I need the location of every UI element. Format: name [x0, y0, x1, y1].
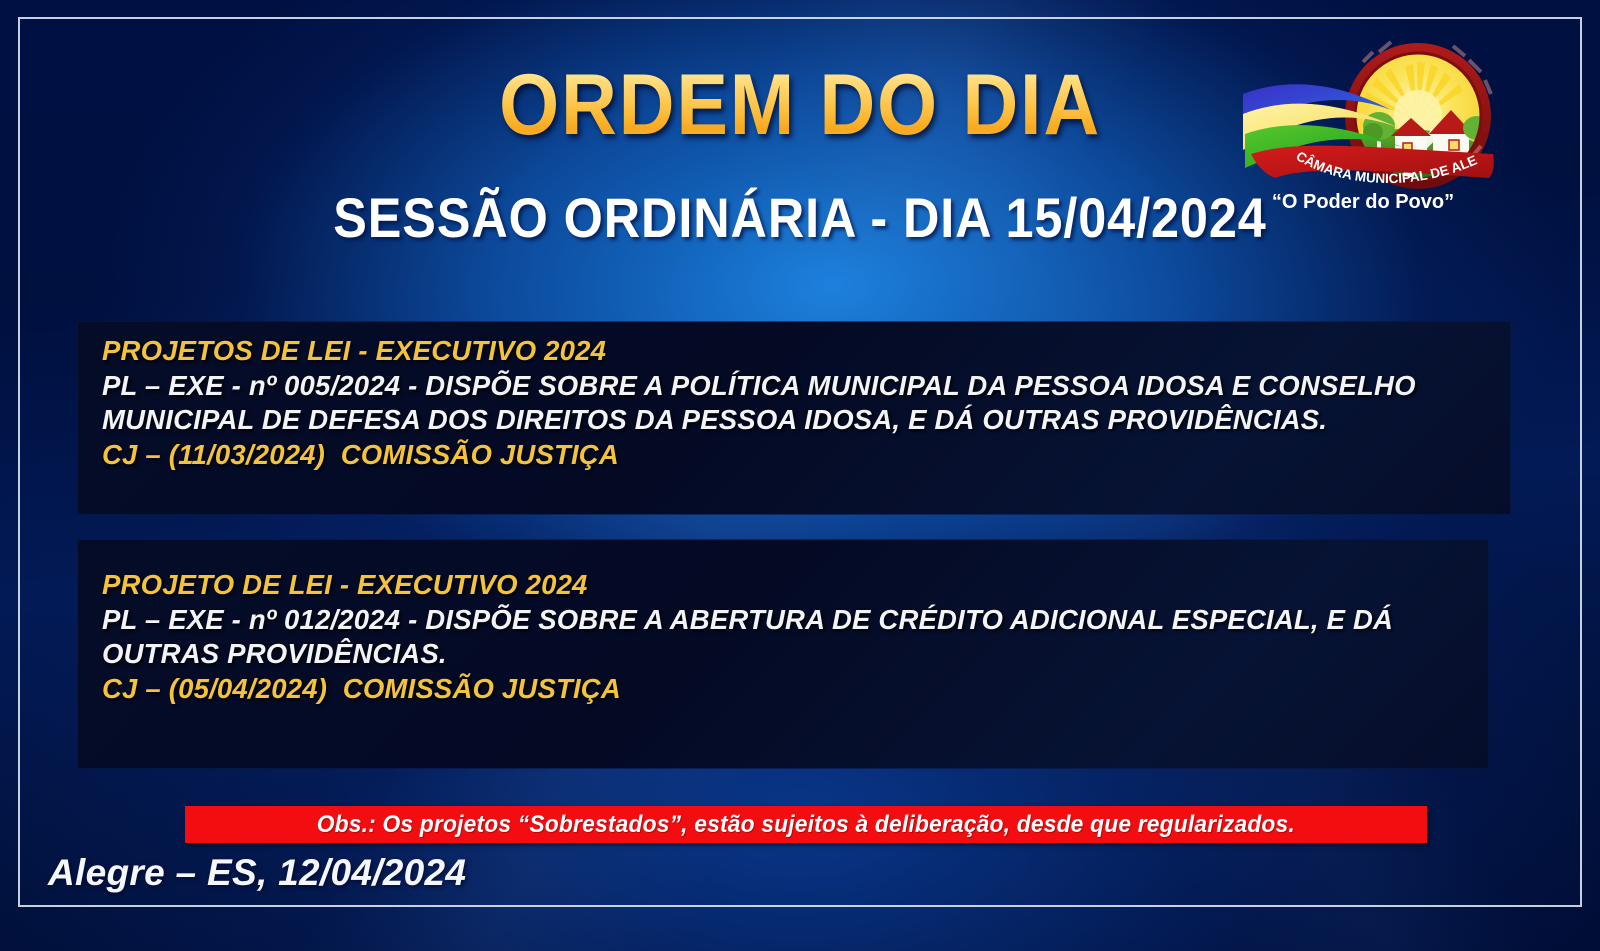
camara-municipal-logo: CÂMARA MUNICIPAL DE ALEGRE - ES “O Poder…: [1213, 36, 1515, 218]
footer-place-date: Alegre – ES, 12/04/2024: [48, 852, 466, 894]
observation-banner: Obs.: Os projetos “Sobrestados”, estão s…: [185, 806, 1427, 843]
bill-panel-2: PROJETO DE LEI - EXECUTIVO 2024 PL – EXE…: [78, 540, 1488, 768]
observation-text: Obs.: Os projetos “Sobrestados”, estão s…: [317, 811, 1295, 839]
bill-1-status: CJ – (11/03/2024) COMISSÃO JUSTIÇA: [102, 438, 1510, 473]
bill-2-heading: PROJETO DE LEI - EXECUTIVO 2024: [102, 568, 1488, 603]
bill-2-status: CJ – (05/04/2024) COMISSÃO JUSTIÇA: [102, 672, 1488, 707]
bill-1-heading: PROJETOS DE LEI - EXECUTIVO 2024: [102, 334, 1510, 369]
bill-1-body: PL – EXE - nº 005/2024 - DISPÕE SOBRE A …: [102, 369, 1510, 438]
bill-2-body: PL – EXE - nº 012/2024 - DISPÕE SOBRE A …: [102, 603, 1488, 672]
logo-motto-text: “O Poder do Povo”: [1272, 191, 1454, 213]
bill-panel-1: PROJETOS DE LEI - EXECUTIVO 2024 PL – EX…: [78, 322, 1510, 514]
slide-canvas: ORDEM DO DIA SESSÃO ORDINÁRIA - DIA 15/0…: [0, 0, 1600, 951]
